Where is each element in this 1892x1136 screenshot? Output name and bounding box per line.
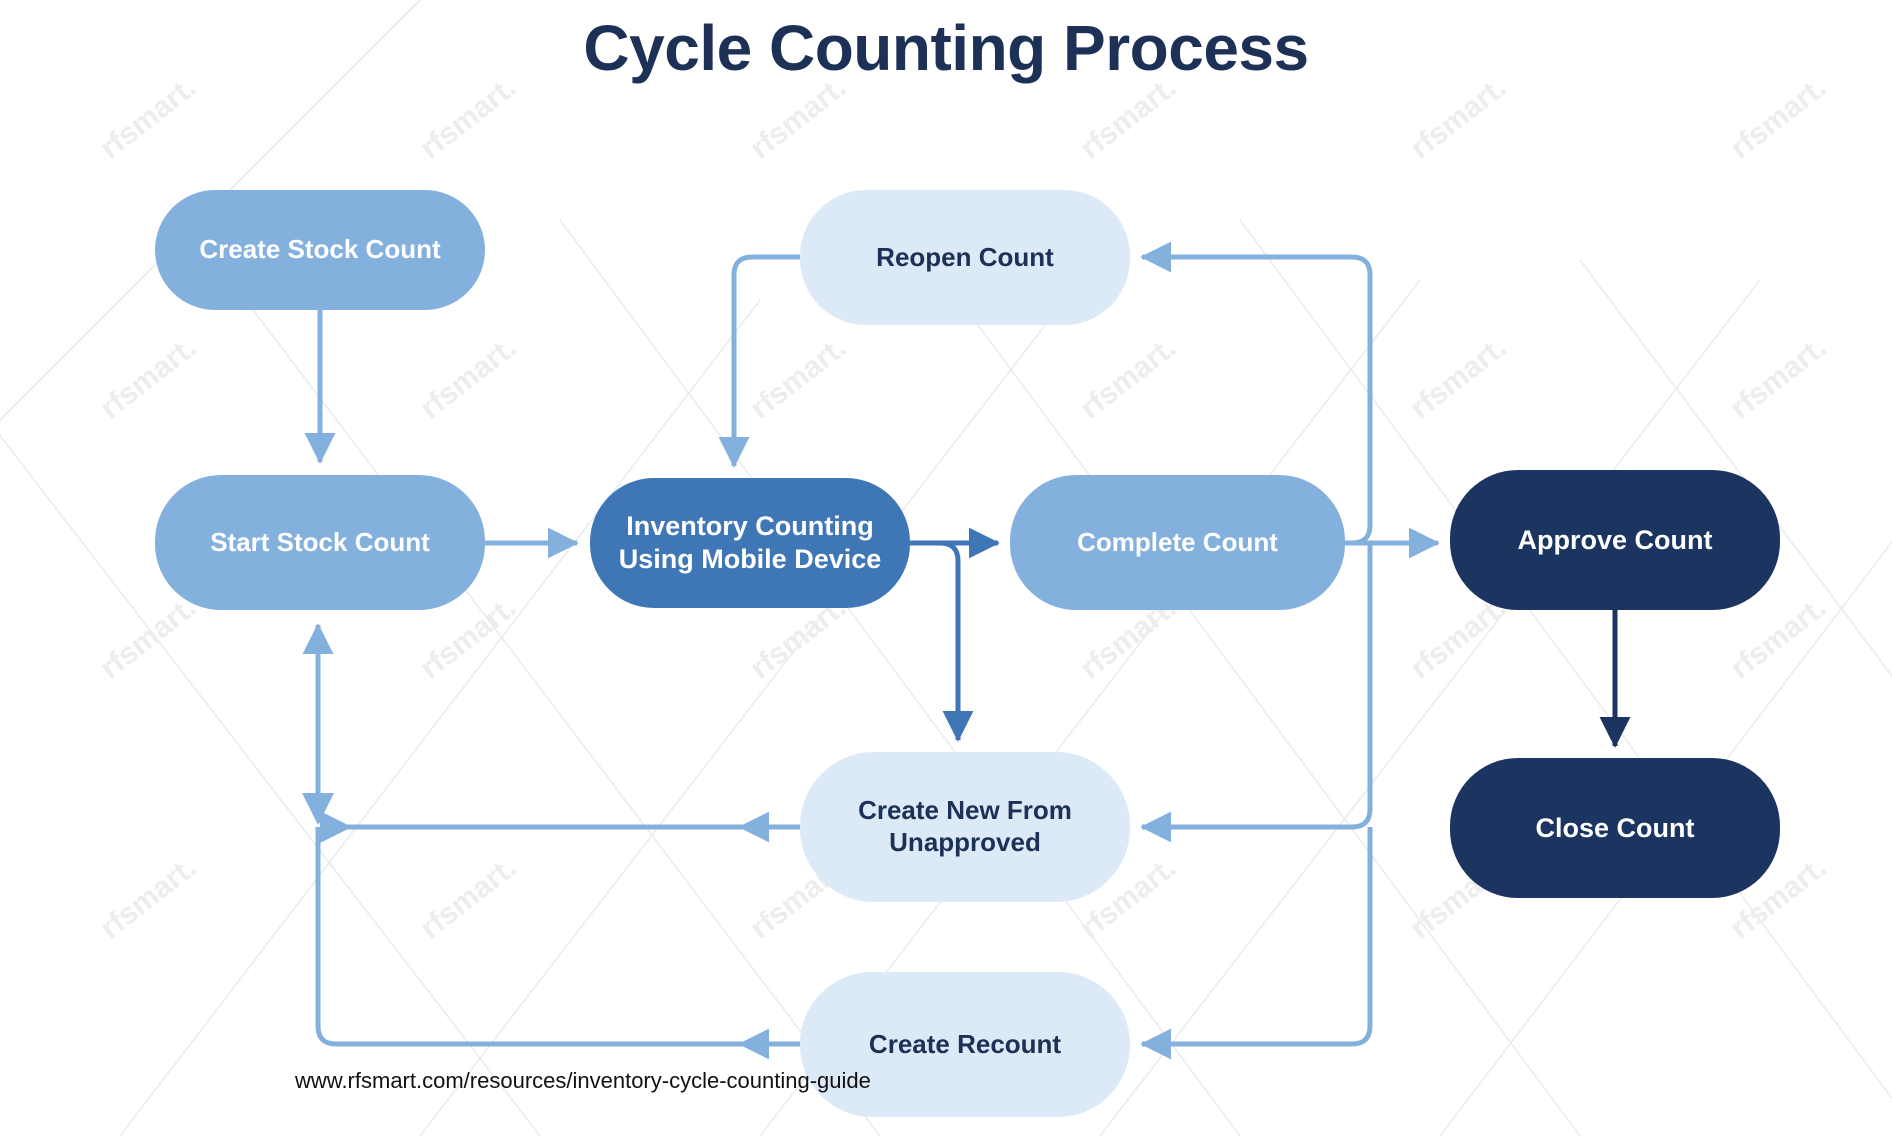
node-start-stock-count[interactable]: Start Stock Count — [155, 475, 485, 610]
node-reopen-count[interactable]: Reopen Count — [800, 190, 1130, 325]
diagram-canvas: rfsmart.rfsmart.rfsmart.rfsmart.rfsmart.… — [0, 0, 1892, 1136]
node-label: Close Count — [1522, 812, 1709, 845]
node-label: Inventory CountingUsing Mobile Device — [605, 510, 896, 576]
node-approve-count[interactable]: Approve Count — [1450, 470, 1780, 610]
node-create-new-from-unapproved[interactable]: Create New FromUnapproved — [800, 752, 1130, 902]
node-close-count[interactable]: Close Count — [1450, 758, 1780, 898]
node-label: Approve Count — [1504, 524, 1727, 557]
connector-create-new-from-unapproved-to-start — [318, 625, 800, 827]
node-create-stock-count[interactable]: Create Stock Count — [155, 190, 485, 310]
connector-inventory-to-create-new-from-unapproved — [910, 543, 958, 740]
node-label: Create Stock Count — [185, 234, 454, 266]
connector-create-recount-to-start — [318, 827, 800, 1044]
node-label: Create Recount — [855, 1029, 1075, 1061]
node-label: Create New FromUnapproved — [844, 795, 1086, 858]
connector-reopen-to-inventory — [734, 257, 800, 466]
node-inventory-counting[interactable]: Inventory CountingUsing Mobile Device — [590, 478, 910, 608]
node-label: Reopen Count — [862, 242, 1068, 274]
footer-url[interactable]: www.rfsmart.com/resources/inventory-cycl… — [295, 1068, 871, 1094]
connector-complete-to-create-recount — [1142, 827, 1370, 1044]
node-label: Start Stock Count — [196, 527, 444, 559]
node-label: Complete Count — [1063, 527, 1292, 559]
node-create-recount[interactable]: Create Recount — [800, 972, 1130, 1117]
node-complete-count[interactable]: Complete Count — [1010, 475, 1345, 610]
